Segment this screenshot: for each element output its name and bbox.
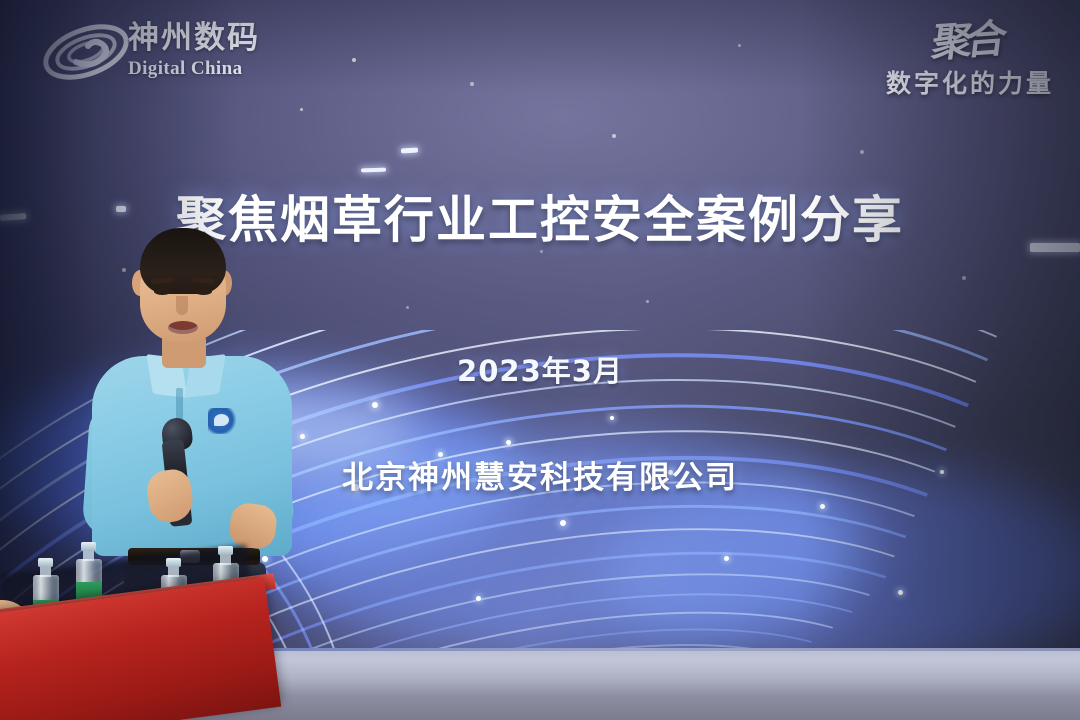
juhe-event-logo: 聚合 数字化的力量	[804, 16, 1054, 116]
particle-dot	[962, 276, 966, 280]
screenshot-root: 神州数码 Digital China 聚合 数字化的力量 聚焦烟草行业工控安全案…	[0, 0, 1080, 720]
speaker-mouth	[168, 321, 198, 334]
speaker-eye-left	[154, 288, 171, 295]
chest-logo-glyph-icon	[214, 414, 229, 426]
brand-name-cn: 神州数码	[128, 22, 278, 55]
particle-dot	[612, 134, 616, 138]
bottle-cap	[38, 558, 53, 567]
light-dash	[361, 168, 386, 173]
spiral-swirl-icon	[40, 16, 132, 88]
speaker-hair	[140, 228, 226, 294]
bottle-cap	[81, 542, 96, 551]
digital-china-wordmark: 神州数码 Digital China	[128, 22, 278, 80]
speaker-eye-right	[195, 288, 212, 295]
particle-dot	[352, 58, 356, 62]
particle-dot	[646, 300, 649, 303]
bottle-cap	[166, 558, 181, 567]
particle-dot	[406, 306, 409, 309]
particle-dot	[738, 44, 741, 47]
bottle-cap	[218, 546, 233, 555]
brand-name-en: Digital China	[128, 58, 278, 80]
speaker-nose	[176, 296, 188, 315]
particle-dot	[470, 82, 474, 86]
particle-dot	[860, 150, 864, 154]
digital-china-logo: 神州数码 Digital China	[40, 14, 270, 92]
particle-dot	[300, 108, 303, 111]
light-dash	[401, 148, 418, 154]
